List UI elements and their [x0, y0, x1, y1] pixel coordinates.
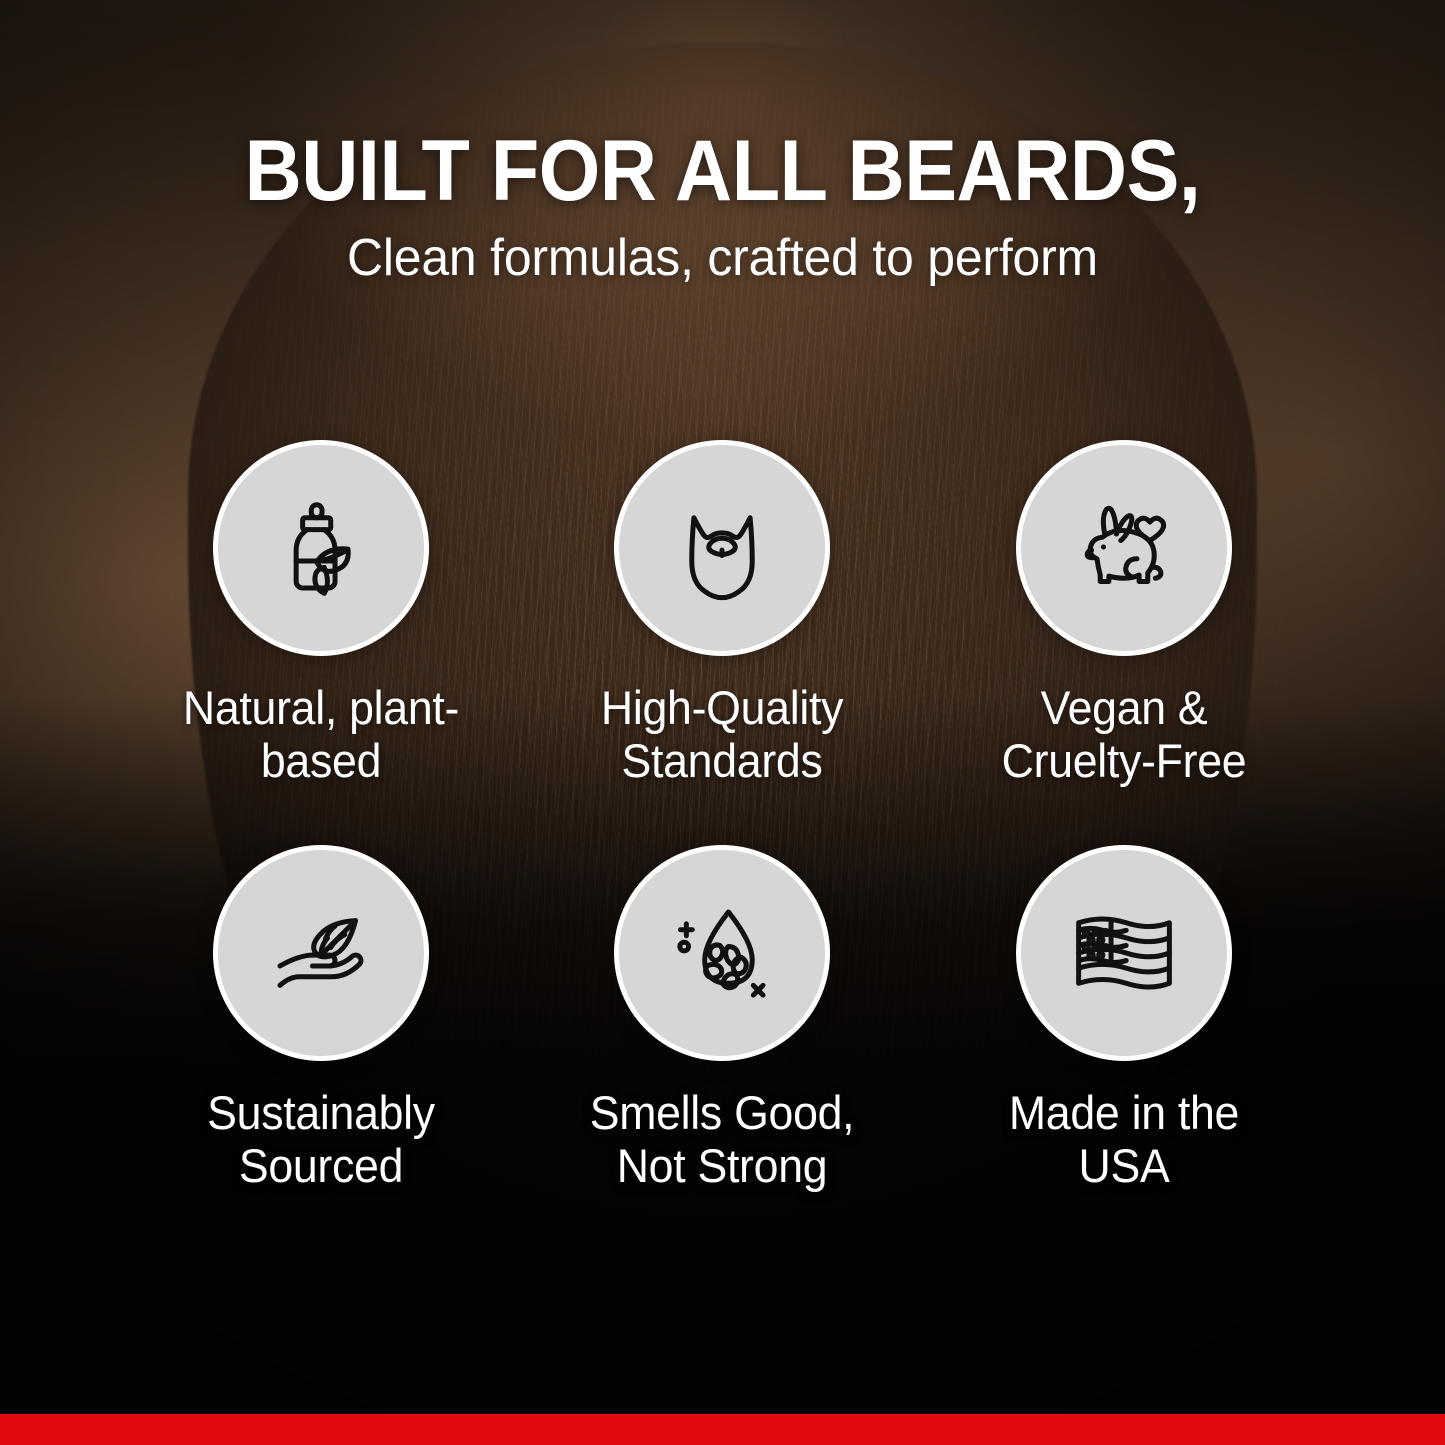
- feature-item: High-Quality Standards: [522, 440, 924, 787]
- promo-infographic: BUILT FOR ALL BEARDS, Clean formulas, cr…: [0, 0, 1445, 1445]
- feature-label: Smells Good, Not Strong: [566, 1087, 880, 1192]
- feature-item: Smells Good, Not Strong: [522, 845, 924, 1192]
- feature-label: High-Quality Standards: [566, 682, 880, 787]
- feature-icon-badge: [213, 845, 429, 1061]
- feature-label: Vegan & Cruelty-Free: [967, 682, 1281, 787]
- beard-icon: [668, 494, 776, 602]
- feature-label: Made in the USA: [967, 1087, 1281, 1192]
- feature-icon-badge: [614, 440, 830, 656]
- usa-flag-icon: [1070, 899, 1178, 1007]
- feature-label: Sustainably Sourced: [164, 1087, 478, 1192]
- content-layer: BUILT FOR ALL BEARDS, Clean formulas, cr…: [0, 0, 1445, 1445]
- droplet-flower-icon: [668, 899, 776, 1007]
- feature-icon-badge: [1016, 845, 1232, 1061]
- feature-label: Natural, plant-based: [164, 682, 478, 787]
- feature-icon-badge: [614, 845, 830, 1061]
- rabbit-heart-icon: [1070, 494, 1178, 602]
- feature-item: Made in the USA: [923, 845, 1325, 1192]
- feature-item: Sustainably Sourced: [120, 845, 522, 1192]
- page-subtitle: Clean formulas, crafted to perform: [29, 232, 1416, 284]
- page-title: BUILT FOR ALL BEARDS,: [58, 128, 1387, 214]
- headline-block: BUILT FOR ALL BEARDS, Clean formulas, cr…: [0, 128, 1445, 284]
- bottom-accent-bar: [0, 1414, 1445, 1445]
- dropper-bottle-leaf-icon: [267, 494, 375, 602]
- feature-item: Natural, plant-based: [120, 440, 522, 787]
- feature-grid: Natural, plant-based High-Quality Standa…: [120, 440, 1325, 1193]
- feature-icon-badge: [1016, 440, 1232, 656]
- hand-feather-icon: [267, 899, 375, 1007]
- feature-item: Vegan & Cruelty-Free: [923, 440, 1325, 787]
- feature-icon-badge: [213, 440, 429, 656]
